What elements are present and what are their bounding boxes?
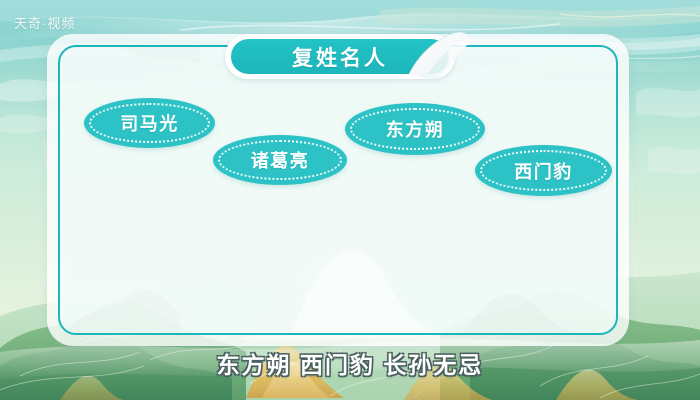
subtitle-caption: 东方朔 西门豹 长孙无忌 xyxy=(0,346,700,380)
name-bubble-2[interactable]: 诸葛亮 xyxy=(213,135,347,185)
page-curl-icon xyxy=(407,28,473,80)
name-bubble-label: 诸葛亮 xyxy=(251,147,310,173)
video-frame: 天奇·视频 司马光 诸葛亮 东方朔 西门豹 复姓名人 xyxy=(0,0,700,400)
name-bubble-label: 西门豹 xyxy=(514,158,573,184)
watermark: 天奇·视频 xyxy=(14,13,75,32)
name-bubble-3[interactable]: 东方朔 xyxy=(345,103,485,155)
name-bubble-4[interactable]: 西门豹 xyxy=(475,145,612,196)
title-banner: 复姓名人 xyxy=(225,34,455,79)
name-bubble-label: 东方朔 xyxy=(386,116,445,142)
name-bubble-1[interactable]: 司马光 xyxy=(84,98,215,148)
name-bubble-label: 司马光 xyxy=(120,110,179,136)
